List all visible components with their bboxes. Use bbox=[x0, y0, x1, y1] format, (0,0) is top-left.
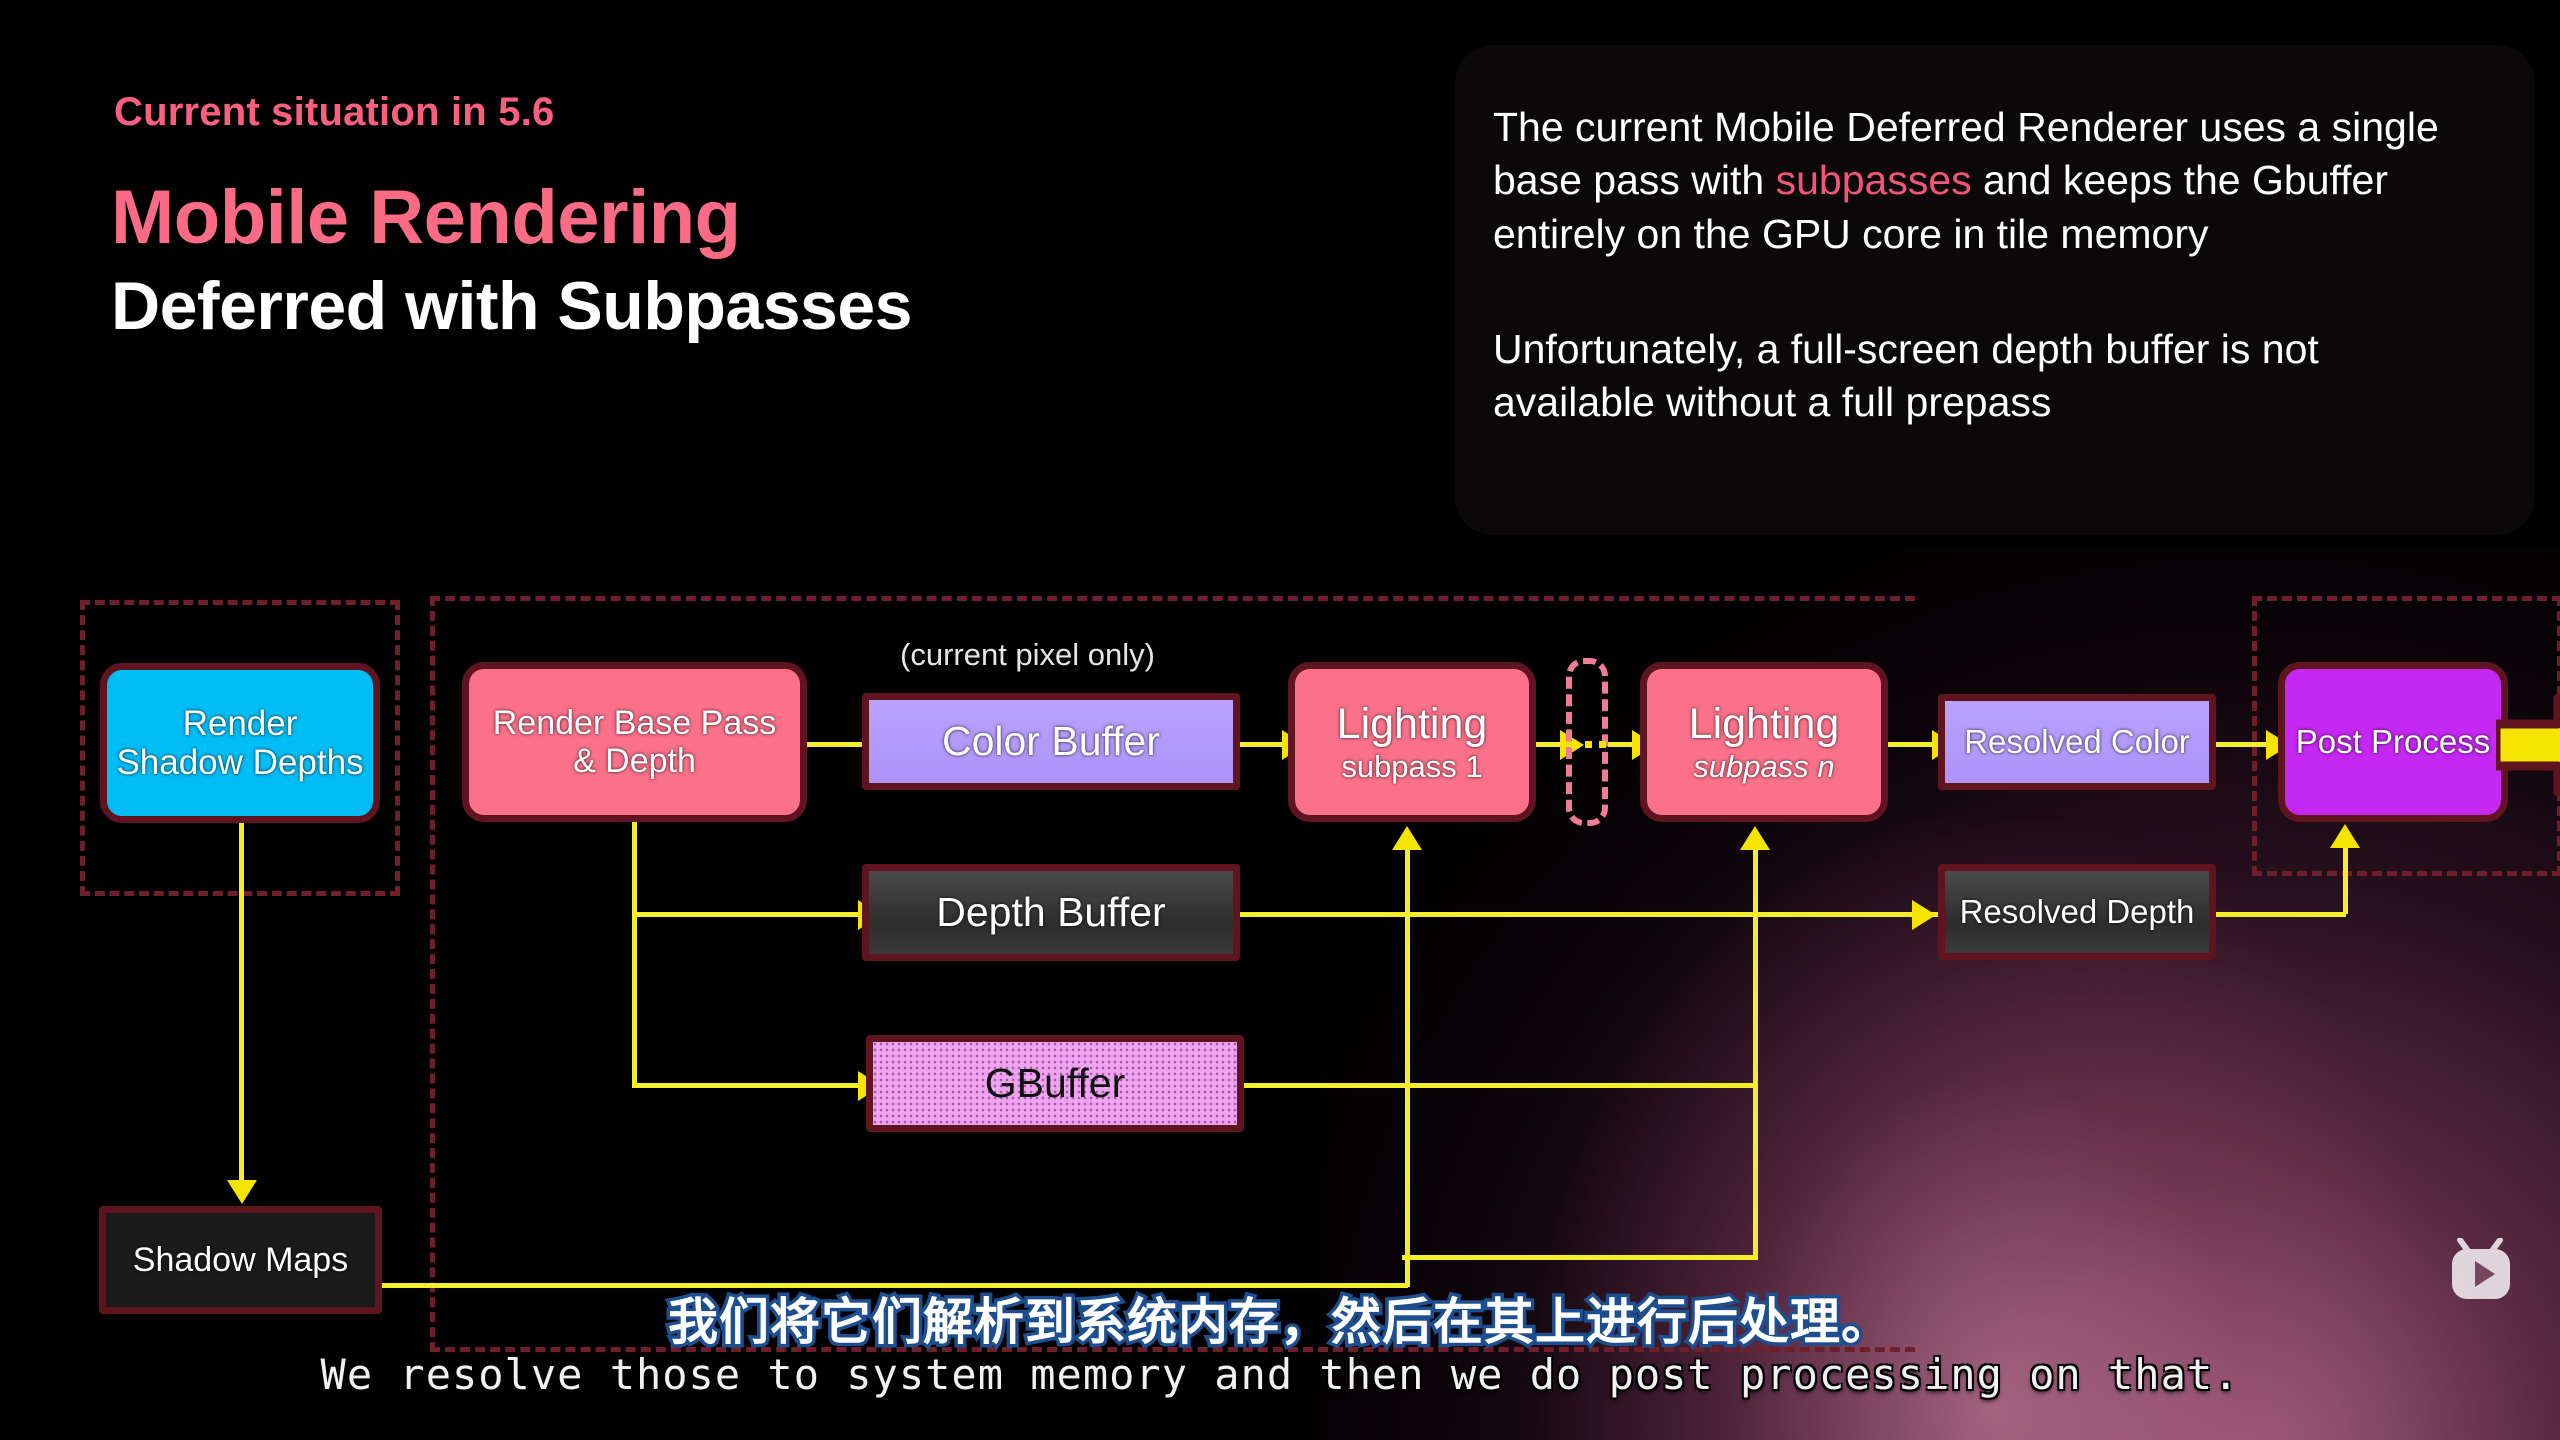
node-color-buffer-label: Color Buffer bbox=[934, 719, 1168, 765]
edge-shadowdepths-to-shadowmaps bbox=[239, 823, 244, 1183]
node-shadow-maps-label: Shadow Maps bbox=[125, 1241, 356, 1279]
node-render-shadow-depths-label: Render Shadow Depths bbox=[107, 704, 373, 782]
edge-lightingn-to-resolvedcolor bbox=[1888, 742, 1938, 747]
edge-basepass-to-depthbuffer bbox=[632, 912, 864, 917]
edge-colorbuffer-to-lighting1 bbox=[1240, 742, 1288, 747]
node-lighting-subpass-1-title: Lighting bbox=[1329, 700, 1496, 748]
node-lighting-subpass-1[interactable]: Lighting subpass 1 bbox=[1288, 662, 1536, 822]
edge-gbuffer-right bbox=[1244, 1083, 1756, 1088]
edge-basepass-down bbox=[632, 822, 637, 1088]
node-lighting-subpass-n-sub: subpass n bbox=[1685, 750, 1842, 785]
edge-resolvedcolor-to-postprocess bbox=[2216, 742, 2272, 747]
arrow-resolveddepth-to-postprocess bbox=[2330, 824, 2360, 848]
arrow-shadowdepths-to-shadowmaps bbox=[227, 1180, 257, 1204]
node-resolved-color-label: Resolved Color bbox=[1956, 724, 2198, 761]
arrow-shadowmaps-to-lighting1 bbox=[1392, 826, 1422, 850]
node-gbuffer[interactable]: GBuffer bbox=[866, 1035, 1244, 1132]
node-resolved-depth[interactable]: Resolved Depth bbox=[1938, 864, 2216, 960]
node-gbuffer-label: GBuffer bbox=[977, 1061, 1134, 1107]
node-resolved-color[interactable]: Resolved Color bbox=[1938, 694, 2216, 790]
node-depth-buffer-label: Depth Buffer bbox=[928, 890, 1173, 936]
edge-depthbuffer-to-resolveddepth bbox=[1240, 912, 1940, 917]
slide-root: Current situation in 5.6 Mobile Renderin… bbox=[0, 0, 2560, 1440]
node-lighting-subpass-n-title: Lighting bbox=[1681, 700, 1848, 748]
node-render-base-pass-depth[interactable]: Render Base Pass & Depth bbox=[462, 662, 807, 822]
subtitle-english: We resolve those to system memory and th… bbox=[0, 1350, 2560, 1399]
tv-play-icon bbox=[2448, 1238, 2516, 1304]
node-post-process[interactable]: Post Process bbox=[2278, 662, 2508, 822]
node-lighting-subpass-n[interactable]: Lighting subpass n bbox=[1640, 662, 1888, 822]
edge-gbuffer-bottom bbox=[1402, 1255, 1755, 1260]
edge-gbuffer-up-to-lightingn bbox=[1753, 850, 1758, 1085]
edge-gbuffer-down bbox=[1753, 1083, 1758, 1260]
edge-resolveddepth-right bbox=[2216, 912, 2346, 917]
arrow-gbuffer-to-lightingn bbox=[1740, 826, 1770, 850]
node-resolved-depth-label: Resolved Depth bbox=[1952, 894, 2203, 931]
node-color-buffer[interactable]: Color Buffer bbox=[862, 693, 1240, 790]
node-post-process-label: Post Process bbox=[2288, 724, 2498, 761]
node-depth-buffer[interactable]: Depth Buffer bbox=[862, 864, 1240, 961]
edge-basepass-to-colorbuffer bbox=[807, 742, 869, 747]
pipeline-diagram: Render Shadow Depths Shadow Maps Render … bbox=[0, 0, 2560, 1440]
ellipsis-dots-icon bbox=[1571, 741, 1606, 748]
arrow-depthbuffer-to-resolveddepth bbox=[1912, 900, 1936, 930]
annotation-current-pixel-only: (current pixel only) bbox=[900, 637, 1155, 673]
edge-basepass-to-gbuffer bbox=[632, 1083, 864, 1088]
output-arrow-icon bbox=[2496, 690, 2560, 800]
node-render-shadow-depths[interactable]: Render Shadow Depths bbox=[100, 663, 380, 823]
subtitle-chinese: 我们将它们解析到系统内存，然后在其上进行后处理。 bbox=[0, 1282, 2560, 1354]
node-lighting-subpass-1-sub: subpass 1 bbox=[1333, 750, 1490, 785]
edge-resolveddepth-up bbox=[2343, 848, 2348, 914]
node-render-base-pass-depth-label: Render Base Pass & Depth bbox=[469, 704, 800, 780]
